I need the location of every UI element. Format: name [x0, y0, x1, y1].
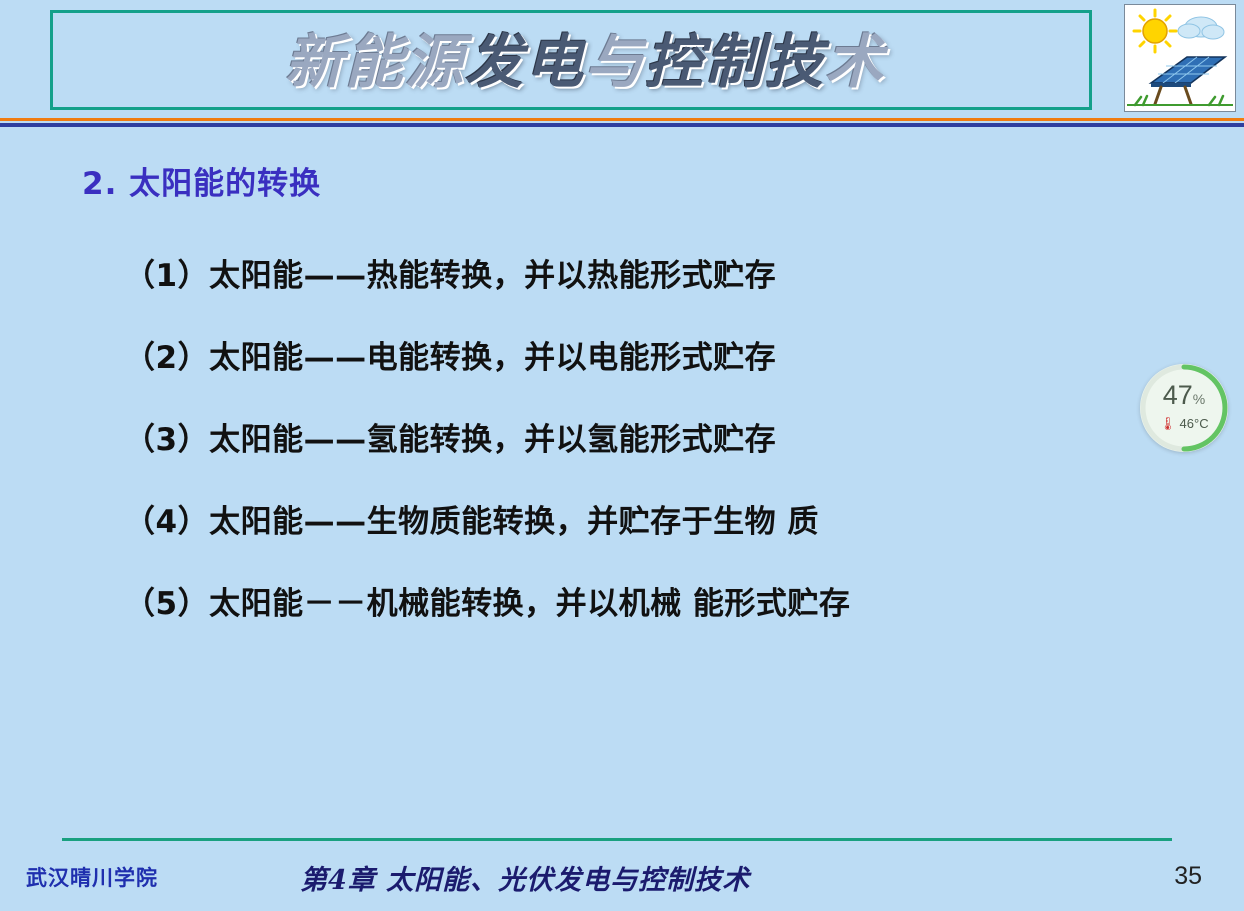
- thermometer-icon: 🌡: [1159, 416, 1176, 431]
- footer-divider: [62, 838, 1172, 841]
- footer-institution: 武汉晴川学院: [26, 862, 158, 892]
- slide-canvas: 新能源发电与控制技术: [0, 0, 1244, 911]
- battery-percent-text: 47%: [1140, 382, 1228, 413]
- list-item: （5）太阳能－－机械能转换，并以机械 能形式贮存: [124, 576, 1124, 658]
- solar-panel-logo-image: [1124, 4, 1236, 112]
- battery-status-widget[interactable]: 47% 🌡 46°C: [1140, 364, 1228, 452]
- slide-title-part-5: 术: [825, 28, 885, 96]
- slide-title-part-1: 新能源: [285, 28, 465, 96]
- list-item: （4）太阳能——生物质能转换，并贮存于生物 质: [124, 494, 1124, 576]
- header-divider-blue: [0, 123, 1244, 127]
- battery-percent-unit: %: [1193, 391, 1205, 407]
- solar-panel-icon: [1125, 5, 1235, 111]
- temperature-readout: 🌡 46°C: [1140, 416, 1228, 432]
- bullet-list: （1）太阳能——热能转换，并以热能形式贮存 （2）太阳能——电能转换，并以电能形…: [124, 248, 1124, 658]
- header-divider: [0, 118, 1244, 127]
- slide-title: 新能源发电与控制技术: [120, 22, 1050, 102]
- slide-title-part-4: 控制技: [645, 28, 825, 96]
- temperature-value: 46°C: [1180, 416, 1209, 431]
- list-item: （1）太阳能——热能转换，并以热能形式贮存: [124, 248, 1124, 330]
- list-item: （2）太阳能——电能转换，并以电能形式贮存: [124, 330, 1124, 412]
- header-divider-orange: [0, 118, 1244, 121]
- footer-chapter-title: 第4章 太阳能、光伏发电与控制技术: [300, 858, 750, 897]
- slide-title-part-2: 发电: [465, 28, 585, 96]
- slide-left-edge: [0, 0, 12, 911]
- battery-percent-value: 47: [1163, 380, 1193, 410]
- slide-title-part-3: 与: [585, 28, 645, 96]
- footer-page-number: 35: [1174, 862, 1202, 891]
- list-item: （3）太阳能——氢能转换，并以氢能形式贮存: [124, 412, 1124, 494]
- section-heading: 2. 太阳能的转换: [82, 158, 321, 203]
